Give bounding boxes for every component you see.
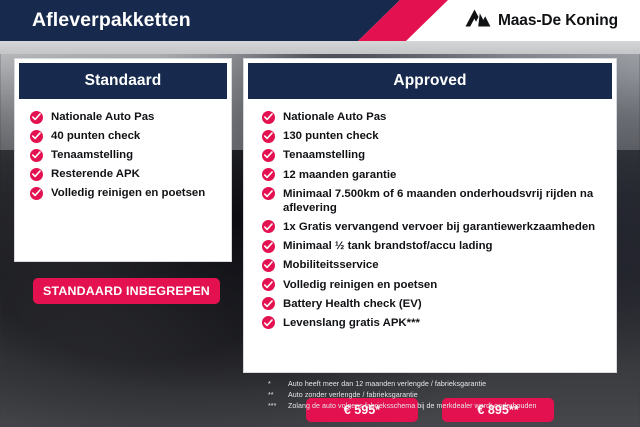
list-item: Mobiliteitsservice — [262, 258, 604, 272]
card-standaard-title: Standaard — [85, 72, 162, 90]
standaard-feature-list: Nationale Auto Pas 40 punten check Tenaa… — [30, 110, 221, 200]
card-standaard-body: Nationale Auto Pas 40 punten check Tenaa… — [15, 99, 231, 200]
feature-label: Mobiliteitsservice — [283, 258, 379, 272]
check-circle-icon — [262, 149, 275, 162]
list-item: Nationale Auto Pas — [262, 110, 604, 124]
feature-label: Tenaamstelling — [283, 148, 365, 162]
feature-label: Levenslang gratis APK*** — [283, 316, 420, 330]
feature-label: Battery Health check (EV) — [283, 297, 422, 311]
feature-label: Minimaal ½ tank brandstof/accu lading — [283, 239, 493, 253]
list-item: Tenaamstelling — [30, 148, 221, 162]
feature-label: Resterende APK — [51, 167, 140, 181]
list-item: 12 maanden garantie — [262, 168, 604, 182]
list-item: Volledig reinigen en poetsen — [30, 186, 221, 200]
footnote-2: ** Auto zonder verlengde / fabrieksgaran… — [268, 390, 618, 400]
check-circle-icon — [30, 130, 43, 143]
feature-label: Nationale Auto Pas — [51, 110, 154, 124]
card-standaard: Standaard Nationale Auto Pas 40 punten c… — [14, 58, 232, 262]
footnote-marker: ** — [268, 390, 288, 400]
list-item: 1x Gratis vervangend vervoer bij garanti… — [262, 220, 604, 234]
check-circle-icon — [262, 240, 275, 253]
check-circle-icon — [262, 130, 275, 143]
card-approved-title: Approved — [393, 72, 466, 90]
feature-label: 1x Gratis vervangend vervoer bij garanti… — [283, 220, 595, 234]
list-item: Tenaamstelling — [262, 148, 604, 162]
check-circle-icon — [30, 187, 43, 200]
list-item: Minimaal 7.500km of 6 maanden onderhouds… — [262, 187, 604, 215]
feature-label: Minimaal 7.500km of 6 maanden onderhouds… — [283, 187, 604, 215]
check-circle-icon — [262, 187, 275, 200]
footnote-1: * Auto heeft meer dan 12 maanden verleng… — [268, 379, 618, 389]
check-circle-icon — [262, 297, 275, 310]
check-circle-icon — [262, 111, 275, 124]
list-item: 40 punten check — [30, 129, 221, 143]
list-item: Battery Health check (EV) — [262, 297, 604, 311]
brand-lockup: Maas-De Koning — [465, 0, 618, 41]
footnote-3: *** Zolang de auto volgens fabrieksschem… — [268, 401, 618, 411]
list-item: Resterende APK — [30, 167, 221, 181]
feature-label: Nationale Auto Pas — [283, 110, 386, 124]
footnote-text: Zolang de auto volgens fabrieksschema bi… — [288, 401, 618, 411]
list-item: Nationale Auto Pas — [30, 110, 221, 124]
card-approved-header: Approved — [248, 63, 612, 99]
footnote-text: Auto zonder verlengde / fabrieksgarantie — [288, 390, 618, 400]
brand-name: Maas-De Koning — [498, 12, 618, 30]
check-circle-icon — [262, 259, 275, 272]
check-circle-icon — [30, 111, 43, 124]
standaard-inbegrepen-button[interactable]: STANDAARD INBEGREPEN — [33, 278, 220, 304]
afleverpakketten-page: Afleverpakketten Maas-De Koning Standaar… — [0, 0, 640, 427]
feature-label: Tenaamstelling — [51, 148, 133, 162]
check-circle-icon — [30, 168, 43, 181]
list-item: Levenslang gratis APK*** — [262, 316, 604, 330]
page-header: Afleverpakketten Maas-De Koning — [0, 0, 640, 41]
feature-label: 130 punten check — [283, 129, 379, 143]
check-circle-icon — [262, 168, 275, 181]
feature-label: Volledig reinigen en poetsen — [283, 278, 437, 292]
footnote-marker: *** — [268, 401, 288, 411]
card-standaard-header: Standaard — [19, 63, 227, 99]
footnote-marker: * — [268, 379, 288, 389]
card-approved: Approved Nationale Auto Pas 130 punten c… — [243, 58, 617, 373]
list-item: 130 punten check — [262, 129, 604, 143]
feature-label: 40 punten check — [51, 129, 140, 143]
feature-label: Volledig reinigen en poetsen — [51, 186, 205, 200]
background-top-strip — [0, 40, 640, 54]
card-approved-body: Nationale Auto Pas 130 punten check Tena… — [244, 99, 616, 330]
check-circle-icon — [30, 149, 43, 162]
check-circle-icon — [262, 316, 275, 329]
footnotes: * Auto heeft meer dan 12 maanden verleng… — [268, 379, 618, 412]
check-circle-icon — [262, 220, 275, 233]
feature-label: 12 maanden garantie — [283, 168, 396, 182]
mountain-m-logo-icon — [465, 9, 491, 32]
list-item: Volledig reinigen en poetsen — [262, 278, 604, 292]
page-title: Afleverpakketten — [32, 0, 191, 41]
footnote-text: Auto heeft meer dan 12 maanden verlengde… — [288, 379, 618, 389]
check-circle-icon — [262, 278, 275, 291]
approved-feature-list: Nationale Auto Pas 130 punten check Tena… — [262, 110, 604, 330]
list-item: Minimaal ½ tank brandstof/accu lading — [262, 239, 604, 253]
